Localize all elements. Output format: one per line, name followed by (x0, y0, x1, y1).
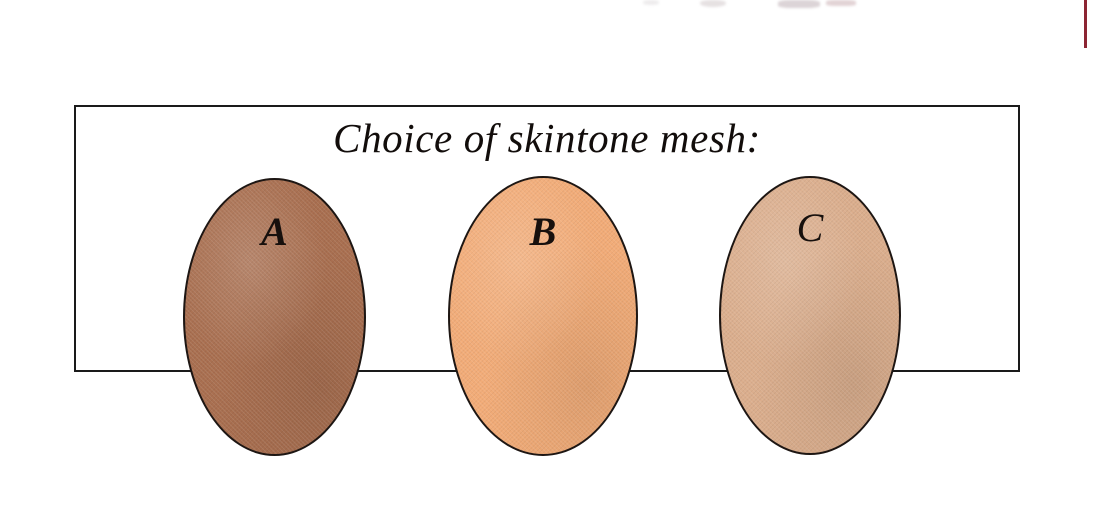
skintone-swatch-b[interactable]: B (448, 176, 638, 456)
swatch-label-b: B (450, 212, 636, 252)
swatch-label-c: C (721, 208, 899, 248)
page-root: Choice of skintone mesh: A B C (0, 0, 1093, 531)
skintone-swatch-group: A B C (0, 0, 1093, 531)
skintone-swatch-c[interactable]: C (719, 176, 901, 455)
swatch-label-a: A (185, 212, 364, 252)
skintone-swatch-a[interactable]: A (183, 178, 366, 456)
